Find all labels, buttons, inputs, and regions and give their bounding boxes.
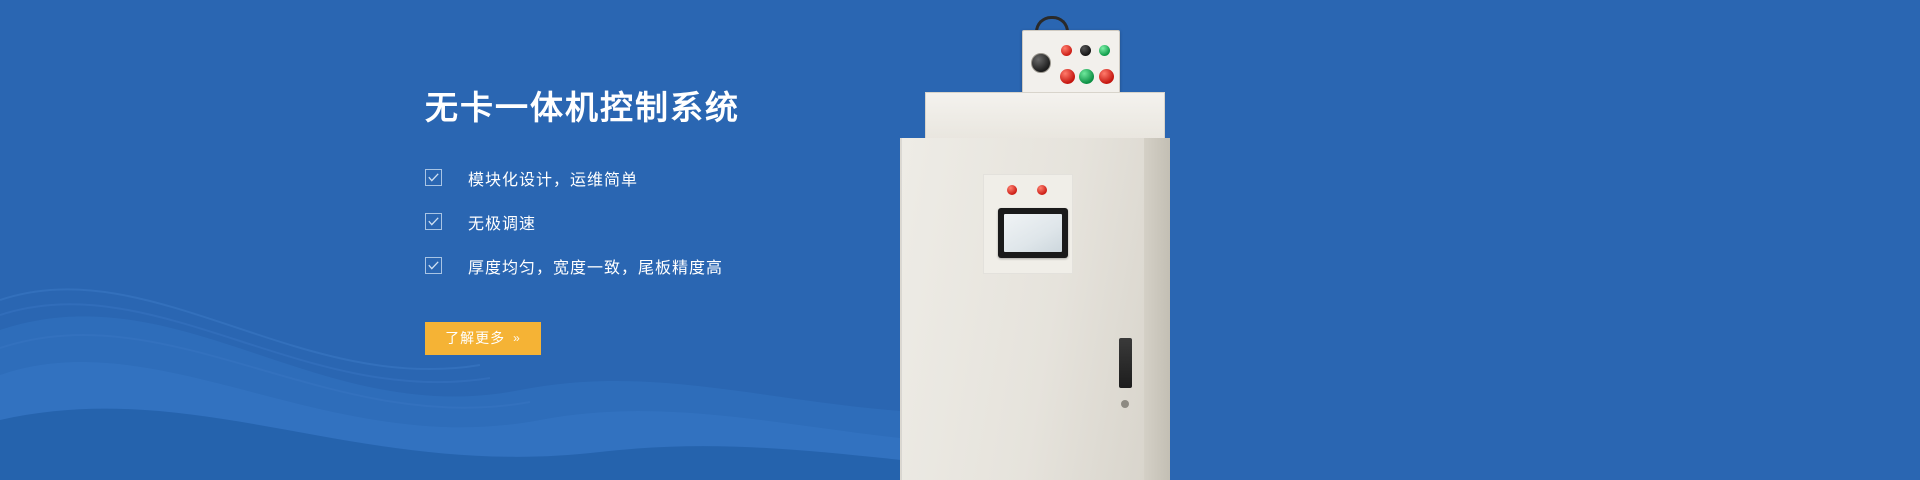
list-item: 模块化设计，运维简单 [425, 166, 1125, 190]
list-item: 厚度均匀，宽度一致，尾板精度高 [425, 254, 1125, 278]
checkbox-checked-icon [425, 213, 442, 230]
learn-more-label: 了解更多 [445, 328, 505, 348]
chevron-right-icon: » [513, 331, 521, 345]
indicator-lamp-dark [1080, 45, 1091, 56]
hero-copy: 无卡一体机控制系统 模块化设计，运维简单 无极调速 [425, 88, 1125, 355]
push-button-red-2 [1099, 69, 1114, 84]
feature-text: 模块化设计，运维简单 [468, 166, 638, 190]
feature-text: 无极调速 [468, 210, 536, 234]
hero-banner: 无卡一体机控制系统 模块化设计，运维简单 无极调速 [0, 0, 1920, 480]
checkbox-checked-icon [425, 169, 442, 186]
feature-text: 厚度均匀，宽度一致，尾板精度高 [468, 254, 723, 278]
cabinet-side-edge [1144, 138, 1170, 480]
push-button-red [1060, 69, 1075, 84]
learn-more-button[interactable]: 了解更多 » [425, 322, 541, 355]
selector-knob-icon [1031, 53, 1051, 73]
checkbox-checked-icon [425, 257, 442, 274]
push-button-green [1079, 69, 1094, 84]
lock-dot-icon [1121, 400, 1129, 408]
indicator-lamp-red-1 [1061, 45, 1072, 56]
indicator-lamp-green-1 [1099, 45, 1110, 56]
control-head-panel [1022, 30, 1120, 95]
feature-list: 模块化设计，运维简单 无极调速 厚度均匀，宽度一致，尾板精度高 [425, 166, 1125, 278]
page-title: 无卡一体机控制系统 [425, 88, 1125, 128]
list-item: 无极调速 [425, 210, 1125, 234]
